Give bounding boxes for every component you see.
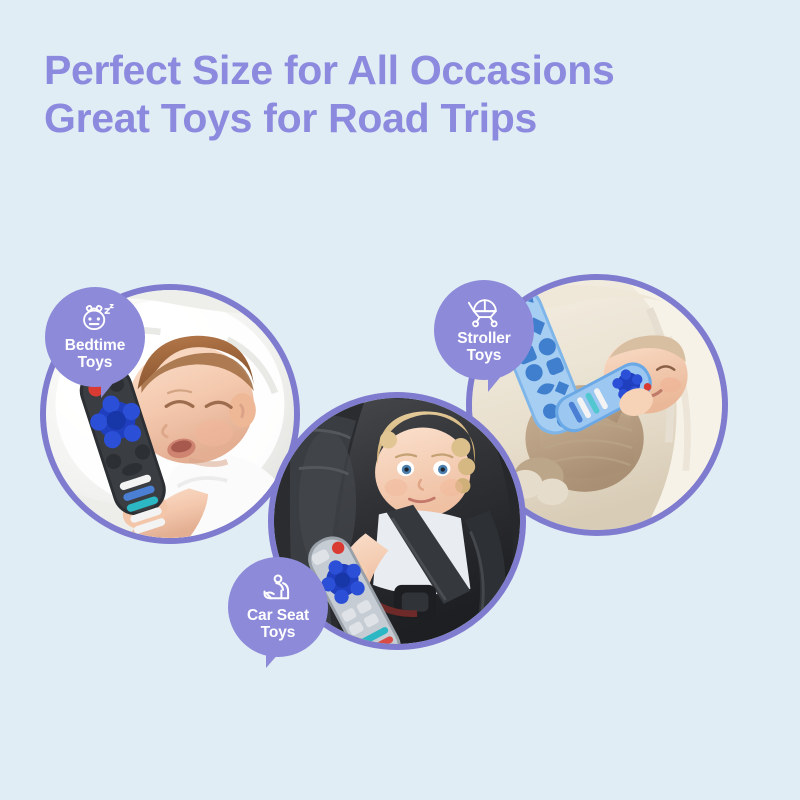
badge-carseat-label: Car Seat Toys [247, 608, 309, 641]
badge-bedtime-label: Bedtime Toys [65, 338, 125, 371]
sleeping-baby-icon [76, 303, 114, 335]
infographic-canvas: Perfect Size for All Occasions Great Toy… [0, 0, 800, 800]
badge-stroller-tail [488, 375, 502, 392]
car-seat-icon [259, 573, 297, 605]
badge-bedtime-tail [101, 382, 114, 398]
badge-carseat-tail [266, 652, 280, 668]
badge-stroller-label: Stroller Toys [457, 331, 510, 364]
badge-car-seat-toys[interactable]: Car Seat Toys [228, 557, 328, 657]
page-title: Perfect Size for All Occasions Great Toy… [44, 46, 744, 143]
badge-bedtime-toys[interactable]: Bedtime Toys [45, 287, 145, 387]
headline-line-2: Great Toys for Road Trips [44, 94, 744, 142]
stroller-pram-icon [465, 296, 503, 328]
headline-line-1: Perfect Size for All Occasions [44, 46, 744, 94]
badge-stroller-toys[interactable]: Stroller Toys [434, 280, 534, 380]
